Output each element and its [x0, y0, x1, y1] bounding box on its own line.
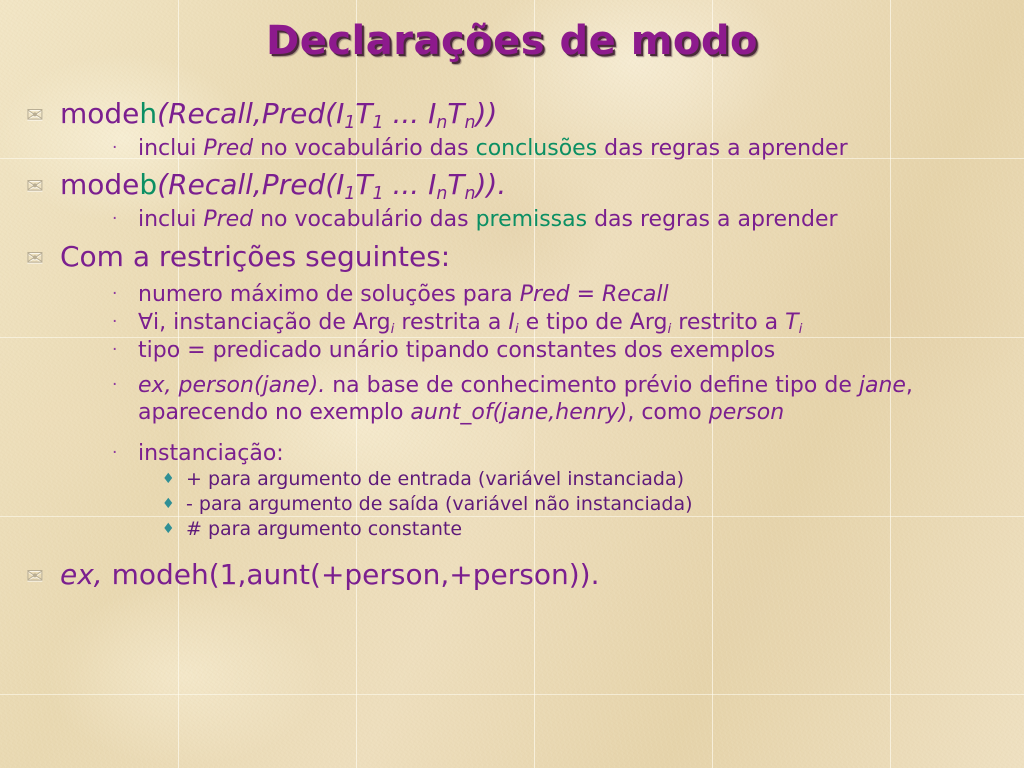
- modeh-detail-mid: no vocabulário das: [253, 136, 475, 161]
- modeh-t1: T: [355, 97, 372, 130]
- modeb-keyword: mode: [60, 168, 139, 201]
- small-dot-bullet-icon: ·: [112, 338, 138, 364]
- diamond-bullet-icon: ♦: [162, 493, 186, 515]
- modeh-detail-pred: Pred: [203, 136, 253, 161]
- restricao-2-p1: ∀i, instanciação de Arg: [138, 310, 391, 335]
- envelope-icon: ✉: [26, 559, 60, 590]
- restricao-2-i2: T: [785, 310, 798, 335]
- bullet-instanciacao: · instanciação:: [26, 441, 1006, 468]
- modeh-keyword: mode: [60, 97, 139, 130]
- bullet-restricoes-heading: Com a restrições seguintes:: [60, 241, 1006, 273]
- restricao-4-p1: ex,: [138, 373, 179, 398]
- small-dot-bullet-icon: ·: [112, 373, 138, 399]
- restricao-4-i1: person(jane).: [179, 373, 326, 398]
- small-dot-bullet-icon: ·: [112, 310, 138, 336]
- modeh-tn: T: [447, 97, 464, 130]
- modeb-detail-pre: inclui: [138, 207, 203, 232]
- modeb-letter: b: [139, 168, 157, 201]
- modeh-ellipsis: ... I: [384, 97, 437, 130]
- slide-body: ✉ modeh(Recall,Pred(I1T1 ... InTn)) · in…: [26, 98, 1006, 593]
- restricao-2-p4: restrito a: [671, 310, 785, 335]
- diamond-bullet-icon: ♦: [162, 518, 186, 540]
- modeb-tn: T: [447, 168, 464, 201]
- bullet-restricoes: ✉ Com a restrições seguintes:: [26, 241, 1006, 273]
- bullet-modeb-detail-text: inclui Pred no vocabulário das premissas…: [138, 207, 1006, 234]
- bullet-exemplo-final: ✉ ex, modeh(1,aunt(+person,+person)).: [26, 559, 1006, 591]
- modeb-signature: (Recall,Pred(I: [157, 168, 344, 201]
- instanciacao-item-1-text: + para argumento de entrada (variável in…: [186, 468, 1006, 492]
- modeh-sub-n: n: [436, 113, 447, 133]
- modeb-ellipsis: ... I: [384, 168, 437, 201]
- modeb-sub-n: n: [436, 184, 447, 204]
- modeb-t1: T: [355, 168, 372, 201]
- modeb-detail-mid: no vocabulário das: [253, 207, 475, 232]
- restricao-4-p2: na base de conhecimento prévio define ti…: [325, 373, 859, 398]
- bullet-modeh-text: modeh(Recall,Pred(I1T1 ... InTn)): [60, 98, 1006, 134]
- restricao-1-pre: numero máximo de soluções para: [138, 282, 520, 307]
- bullet-modeb-detail: · inclui Pred no vocabulário das premiss…: [26, 207, 1006, 234]
- small-dot-bullet-icon: ·: [112, 282, 138, 308]
- restricao-2-s4: i: [799, 320, 803, 336]
- restricao-2-p2: restrita a: [394, 310, 508, 335]
- restricao-item-3-text: tipo = predicado unário tipando constant…: [138, 338, 1006, 365]
- instanciacao-item-1: ♦ + para argumento de entrada (variável …: [26, 468, 1006, 492]
- restricao-item-4: · ex, person(jane). na base de conhecime…: [26, 373, 1006, 427]
- restricao-4-p4: , como: [627, 400, 708, 425]
- restricao-item-3: · tipo = predicado unário tipando consta…: [26, 338, 1006, 365]
- instanciacao-item-2-text: - para argumento de saída (variável não …: [186, 493, 1006, 517]
- restricao-4-i4: person: [709, 400, 784, 425]
- instanciacao-item-2: ♦ - para argumento de saída (variável nã…: [26, 493, 1006, 517]
- modeb-detail-post: das regras a aprender: [587, 207, 837, 232]
- diamond-bullet-icon: ♦: [162, 468, 186, 490]
- restricao-item-2: · ∀i, instanciação de Argi restrita a Ii…: [26, 310, 1006, 337]
- modeh-detail-accent: conclusões: [476, 136, 598, 161]
- restricao-item-1: · numero máximo de soluções para Pred = …: [26, 282, 1006, 309]
- instanciacao-item-3: ♦ # para argumento constante: [26, 518, 1006, 542]
- envelope-icon: ✉: [26, 241, 60, 272]
- modeb-sub-nb: n: [464, 184, 475, 204]
- small-dot-bullet-icon: ·: [112, 136, 138, 162]
- modeb-detail-accent: premissas: [476, 207, 587, 232]
- bullet-modeb-text: modeb(Recall,Pred(I1T1 ... InTn)).: [60, 169, 1006, 205]
- bullet-modeb: ✉ modeb(Recall,Pred(I1T1 ... InTn)).: [26, 169, 1006, 205]
- bullet-modeh-detail: · inclui Pred no vocabulário das conclus…: [26, 136, 1006, 163]
- modeh-detail-post: das regras a aprender: [597, 136, 847, 161]
- bullet-modeh-detail-text: inclui Pred no vocabulário das conclusõe…: [138, 136, 1006, 163]
- exemplo-final-rest: modeh(1,aunt(+person,+person)).: [103, 558, 600, 591]
- modeh-signature: (Recall,Pred(I: [157, 97, 344, 130]
- restricao-item-2-text: ∀i, instanciação de Argi restrita a Ii e…: [138, 310, 1006, 337]
- modeh-sub-1: 1: [344, 113, 355, 133]
- restricao-item-1-text: numero máximo de soluções para Pred = Re…: [138, 282, 1006, 309]
- restricao-item-4-text: ex, person(jane). na base de conheciment…: [138, 373, 1006, 427]
- restricao-2-p3: e tipo de Arg: [519, 310, 668, 335]
- instanciacao-item-3-text: # para argumento constante: [186, 518, 1006, 542]
- bullet-modeh: ✉ modeh(Recall,Pred(I1T1 ... InTn)): [26, 98, 1006, 134]
- modeb-detail-pred: Pred: [203, 207, 253, 232]
- restricao-1-italic: Pred = Recall: [520, 282, 669, 307]
- modeb-close: )).: [476, 168, 507, 201]
- modeh-detail-pre: inclui: [138, 136, 203, 161]
- envelope-icon: ✉: [26, 169, 60, 200]
- small-dot-bullet-icon: ·: [112, 207, 138, 233]
- bullet-exemplo-final-text: ex, modeh(1,aunt(+person,+person)).: [60, 559, 1006, 591]
- exemplo-final-prefix: ex,: [60, 558, 103, 591]
- small-dot-bullet-icon: ·: [112, 441, 138, 467]
- modeb-sub-1b: 1: [373, 184, 384, 204]
- restricao-4-i2: jane: [859, 373, 906, 398]
- bullet-instanciacao-heading: instanciação:: [138, 441, 1006, 468]
- modeh-sub-nb: n: [464, 113, 475, 133]
- modeh-close: )): [475, 97, 497, 130]
- envelope-icon: ✉: [26, 98, 60, 129]
- restricao-4-i3: aunt_of(jane,henry): [410, 400, 627, 425]
- modeh-sub-1b: 1: [373, 113, 384, 133]
- modeb-sub-1: 1: [344, 184, 355, 204]
- modeh-letter: h: [139, 97, 157, 130]
- slide-title: Declarações de modo: [0, 18, 1024, 64]
